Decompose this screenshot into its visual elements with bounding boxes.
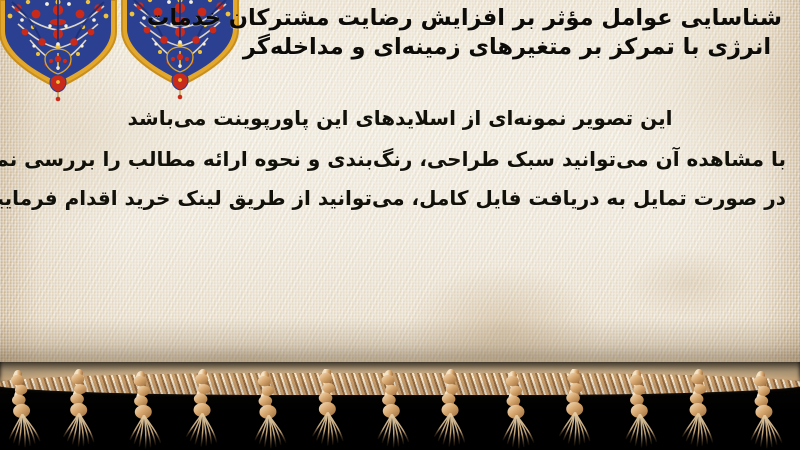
tassel xyxy=(500,374,534,448)
tassel xyxy=(434,372,468,446)
body-line-2: با مشاهده آن می‌توانید سبک طراحی، رنگ‌بن… xyxy=(14,149,786,170)
carpet-fringe-zone xyxy=(0,355,800,450)
title-line-1: شناسایی عوامل مؤثر بر افزایش رضایت مشترک… xyxy=(232,4,782,33)
tassel xyxy=(128,374,161,448)
body-line-3: در صورت تمایل به دریافت فایل کامل، می‌تو… xyxy=(14,188,786,209)
slide-canvas: شناسایی عوامل مؤثر بر افزایش رضایت مشترک… xyxy=(0,0,800,450)
tassel xyxy=(559,372,592,446)
slide-body: این تصویر نمونه‌ای از اسلایدهای این پاور… xyxy=(14,108,786,209)
tassel xyxy=(63,373,96,447)
tassel xyxy=(376,373,409,447)
tassel xyxy=(624,373,657,447)
tassel xyxy=(682,372,716,446)
body-line-1: این تصویر نمونه‌ای از اسلایدهای این پاور… xyxy=(14,108,786,129)
tassel xyxy=(252,374,286,448)
tassel xyxy=(313,372,344,446)
title-line-2: انرژی با تمرکز بر متغیرهای زمینه‌ای و مد… xyxy=(232,33,782,62)
tassel xyxy=(748,374,782,448)
fringe-tassel-row xyxy=(0,369,800,449)
slide-title: شناسایی عوامل مؤثر بر افزایش رضایت مشترک… xyxy=(232,4,782,63)
tassel xyxy=(186,372,220,446)
tassel xyxy=(5,373,40,448)
